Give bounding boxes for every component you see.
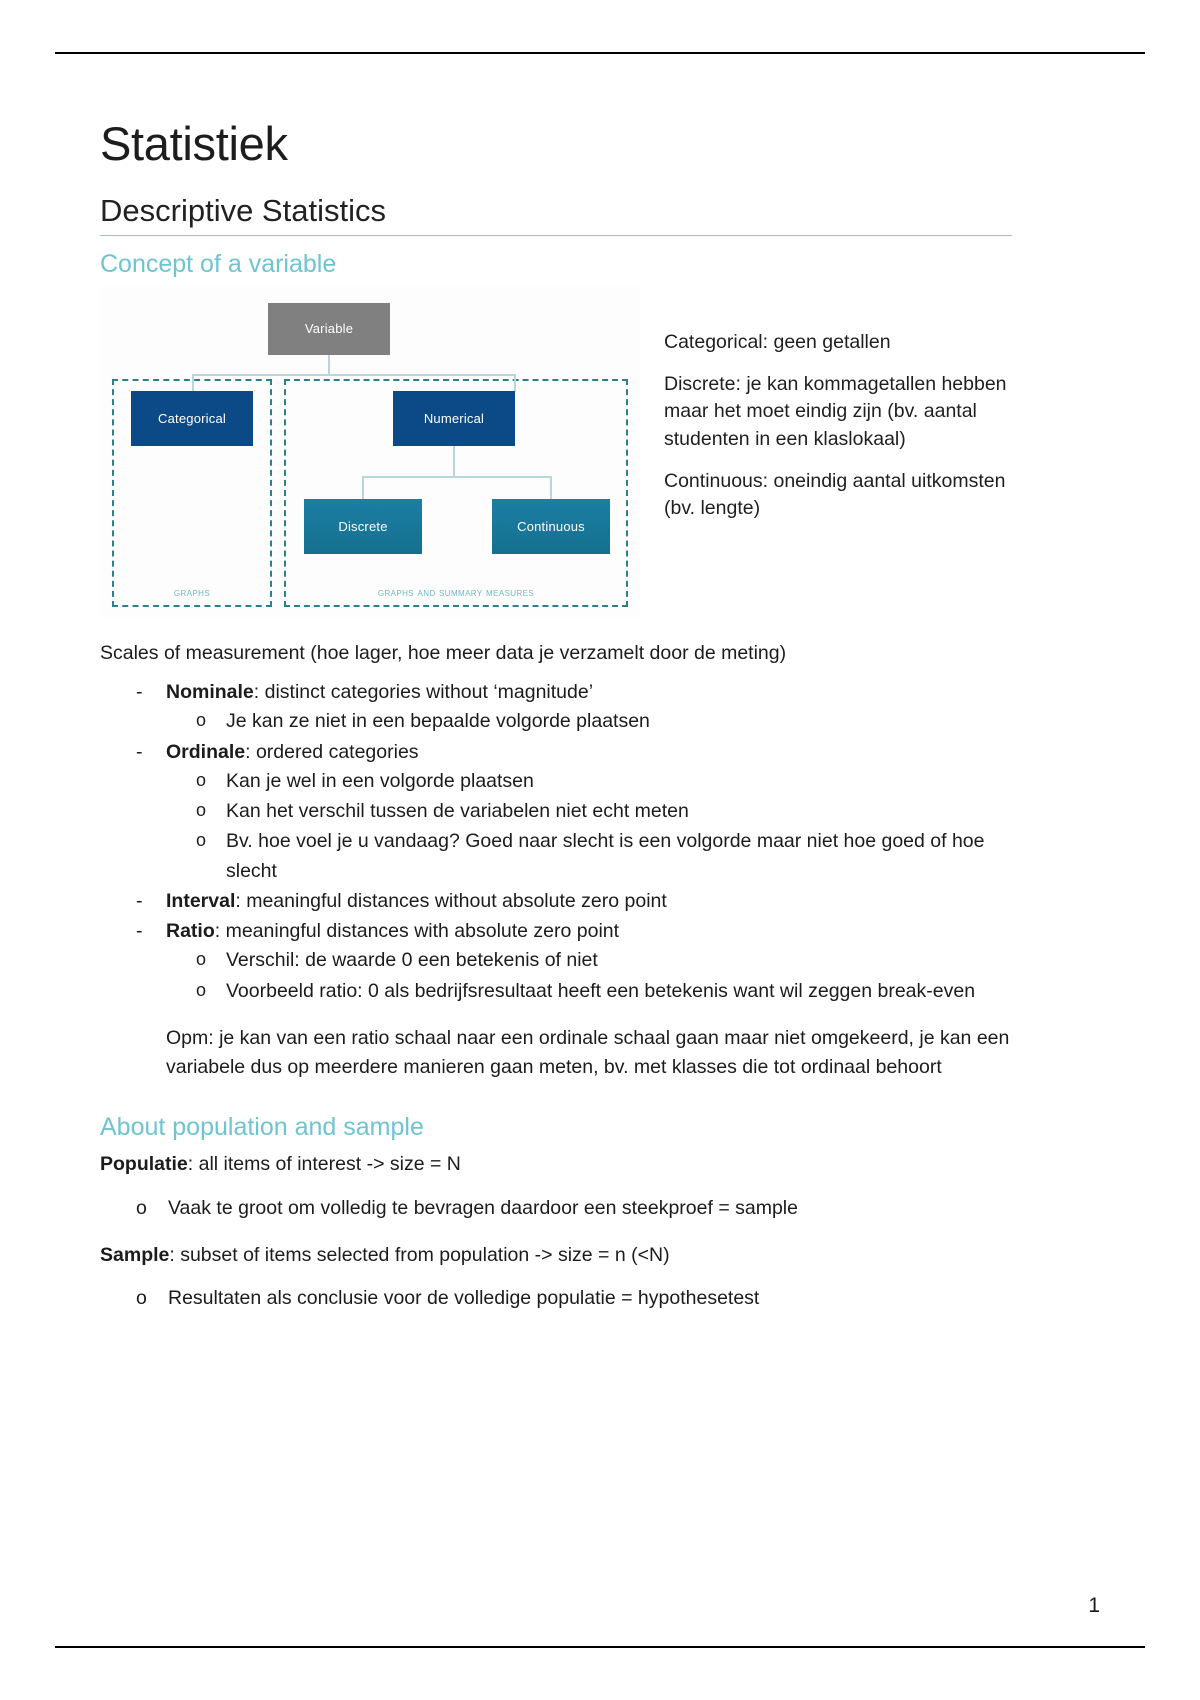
scale-desc-ratio: : meaningful distances with absolute zer… xyxy=(215,920,619,942)
list-item: o Kan je wel in een volgorde plaatsen xyxy=(196,767,1012,796)
figure-row: Graphs Graphs and Summary measures Varia… xyxy=(100,287,1012,617)
header-rule xyxy=(55,52,1145,54)
sub-item-text: Vaak te groot om volledig te bevragen da… xyxy=(168,1197,798,1219)
group-label-graphs-and-summary-measures: Graphs and Summary measures xyxy=(286,587,626,599)
list-item: o Resultaten als conclusie voor de volle… xyxy=(136,1284,1012,1313)
scale-desc-nominale: : distinct categories without ‘magnitude… xyxy=(254,681,593,703)
sample-definition: Sample: subset of items selected from po… xyxy=(100,1241,1012,1270)
side-note-continuous: Continuous: oneindig aantal uitkomsten (… xyxy=(664,468,1012,523)
circle-marker: o xyxy=(196,977,206,1004)
diagram-node-categorical: Categorical xyxy=(131,391,253,446)
list-item: o Verschil: de waarde 0 een betekenis of… xyxy=(196,946,1012,975)
dash-marker: - xyxy=(136,887,143,916)
sub-item-text: Voorbeeld ratio: 0 als bedrijfsresultaat… xyxy=(226,980,975,1002)
sample-desc: : subset of items selected from populati… xyxy=(169,1244,669,1266)
scales-of-measurement-block: Scales of measurement (hoe lager, hoe me… xyxy=(100,639,1012,1083)
list-item: o Voorbeeld ratio: 0 als bedrijfsresulta… xyxy=(196,977,1012,1006)
subsection-heading-about-population-and-sample: About population and sample xyxy=(100,1112,1012,1142)
circle-marker: o xyxy=(196,797,206,824)
page-content: Statistiek Descriptive Statistics Concep… xyxy=(100,118,1012,1313)
scale-term-ratio: Ratio xyxy=(166,920,215,942)
sample-term: Sample xyxy=(100,1244,169,1266)
section-heading-descriptive-statistics: Descriptive Statistics xyxy=(100,192,1012,236)
list-item: - Ordinale: ordered categories o Kan je … xyxy=(136,738,1012,886)
connector-numerical-drop xyxy=(514,374,516,392)
connector-level1-horizontal xyxy=(192,374,516,376)
sub-item-text: Bv. hoe voel je u vandaag? Goed naar sle… xyxy=(226,830,985,881)
diagram-node-numerical: Numerical xyxy=(393,391,515,446)
list-item: o Vaak te groot om volledig te bevragen … xyxy=(136,1194,1012,1223)
figure-side-notes: Categorical: geen getallen Discrete: je … xyxy=(664,287,1012,523)
dash-marker: - xyxy=(136,917,143,946)
list-item: o Je kan ze niet in een bepaalde volgord… xyxy=(196,707,1012,736)
subsection-heading-concept-of-a-variable: Concept of a variable xyxy=(100,249,1012,279)
side-note-discrete: Discrete: je kan kommagetallen hebben ma… xyxy=(664,371,1012,454)
page-title: Statistiek xyxy=(100,118,1012,170)
circle-marker: o xyxy=(196,946,206,973)
list-item: o Bv. hoe voel je u vandaag? Goed naar s… xyxy=(196,827,1012,886)
scales-sublist-nominale: o Je kan ze niet in een bepaalde volgord… xyxy=(166,707,1012,736)
connector-categorical-drop xyxy=(192,374,194,392)
dash-marker: - xyxy=(136,738,143,767)
scales-lead-text: Scales of measurement (hoe lager, hoe me… xyxy=(100,639,1012,668)
scale-term-interval: Interval xyxy=(166,890,235,912)
scales-sublist-ordinale: o Kan je wel in een volgorde plaatsen o … xyxy=(166,767,1012,886)
document-page: Statistiek Descriptive Statistics Concep… xyxy=(0,0,1200,1700)
footer-rule xyxy=(55,1646,1145,1648)
scales-sublist-ratio: o Verschil: de waarde 0 een betekenis of… xyxy=(166,946,1012,1006)
side-note-categorical: Categorical: geen getallen xyxy=(664,329,1012,357)
list-item: o Kan het verschil tussen de variabelen … xyxy=(196,797,1012,826)
scale-term-nominale: Nominale xyxy=(166,681,254,703)
circle-marker: o xyxy=(136,1284,147,1313)
population-and-sample-block: Populatie: all items of interest -> size… xyxy=(100,1150,1012,1313)
list-item: - Nominale: distinct categories without … xyxy=(136,678,1012,737)
diagram-node-variable: Variable xyxy=(268,303,390,355)
scale-term-ordinale: Ordinale xyxy=(166,741,245,763)
variable-classification-diagram: Graphs Graphs and Summary measures Varia… xyxy=(100,287,640,617)
diagram-node-discrete: Discrete xyxy=(304,499,422,554)
scale-desc-interval: : meaningful distances without absolute … xyxy=(235,890,666,912)
population-term: Populatie xyxy=(100,1153,188,1175)
connector-numerical-vertical xyxy=(453,446,455,476)
circle-marker: o xyxy=(196,707,206,734)
connector-discrete-drop xyxy=(362,476,364,500)
sub-item-text: Kan je wel in een volgorde plaatsen xyxy=(226,770,534,792)
page-number: 1 xyxy=(1088,1594,1100,1618)
sample-sublist: o Resultaten als conclusie voor de volle… xyxy=(100,1284,1012,1313)
dash-marker: - xyxy=(136,678,143,707)
scale-desc-ordinale: : ordered categories xyxy=(245,741,418,763)
list-item: - Interval: meaningful distances without… xyxy=(136,887,1012,916)
list-item: - Ratio: meaningful distances with absol… xyxy=(136,917,1012,1006)
sub-item-text: Verschil: de waarde 0 een betekenis of n… xyxy=(226,949,598,971)
sub-item-text: Kan het verschil tussen de variabelen ni… xyxy=(226,800,689,822)
circle-marker: o xyxy=(136,1194,147,1223)
connector-root-vertical xyxy=(328,355,330,375)
population-desc: : all items of interest -> size = N xyxy=(188,1153,461,1175)
sub-item-text: Resultaten als conclusie voor de volledi… xyxy=(168,1287,759,1309)
population-definition: Populatie: all items of interest -> size… xyxy=(100,1150,1012,1179)
circle-marker: o xyxy=(196,827,206,854)
connector-continuous-drop xyxy=(550,476,552,500)
scales-note-paragraph: Opm: je kan van een ratio schaal naar ee… xyxy=(166,1024,1012,1083)
diagram-node-continuous: Continuous xyxy=(492,499,610,554)
sub-item-text: Je kan ze niet in een bepaalde volgorde … xyxy=(226,710,650,732)
scales-list: - Nominale: distinct categories without … xyxy=(100,678,1012,1006)
population-sublist: o Vaak te groot om volledig te bevragen … xyxy=(100,1194,1012,1223)
group-label-graphs: Graphs xyxy=(114,587,270,599)
connector-level2-horizontal xyxy=(362,476,552,478)
circle-marker: o xyxy=(196,767,206,794)
